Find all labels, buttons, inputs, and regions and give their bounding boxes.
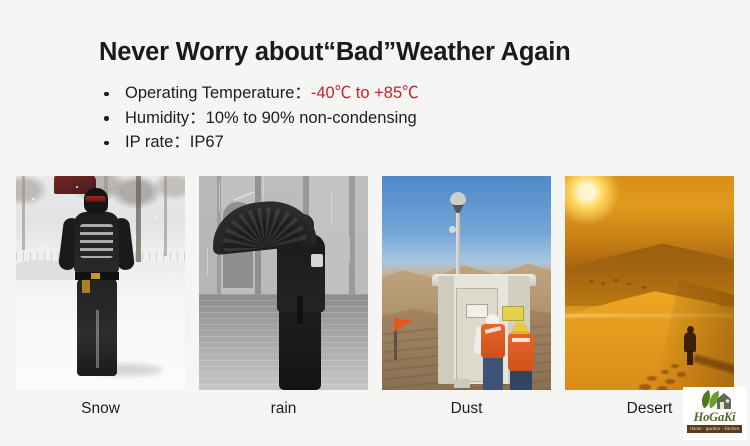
dune-crest [565,314,734,317]
footprint [639,384,651,390]
rain-streak [349,236,350,262]
snowflake [32,198,34,200]
spec-list: Operating Temperature：-40℃ to +85℃ Humid… [100,81,419,155]
spec-label: Humidity：10% to 90% non-condensing [125,109,417,127]
snowflake [134,236,136,238]
footprint [665,379,675,384]
logo-wordmark: HoGaKi [694,410,736,424]
spec-label: Operating Temperature： [125,84,311,102]
caption-row: Snow rain Dust Desert [16,398,734,424]
rain-streak [263,176,264,198]
belt-pouch [82,280,90,293]
footprint [657,386,668,390]
footprint [661,370,669,374]
rain-streak [331,190,332,224]
page-title: Never Worry about“Bad”Weather Again [99,38,570,67]
tree-trunk [164,176,167,256]
distant-mark [627,283,631,285]
distant-mark [613,279,619,282]
snowflake [44,246,46,248]
worker-legs [483,356,503,390]
red-goggles [85,196,106,202]
rain-streak [207,248,208,276]
equipment-strap [297,296,303,324]
belt-buckle [91,273,100,279]
vest-reflective-stripe [512,338,530,342]
cabinet-plate [466,304,488,318]
caption-snow: Snow [16,398,185,424]
logo-tagline: Home - garden - kitchen [687,425,743,433]
caption-rain: rain [199,398,368,424]
ground-box [454,379,470,388]
leg-split [96,310,99,368]
distant-mark [601,282,605,285]
spec-item-ip-rate: IP rate：IP67 [100,130,419,155]
worker-white-helmet [486,314,499,324]
rain-photo [199,176,368,390]
snow-covered-vest [80,224,113,258]
slide-canvas: Never Worry about“Bad”Weather Again Oper… [0,0,750,446]
snowflake [76,186,78,188]
snow-photo [16,176,185,390]
rain-streak [219,182,220,212]
caption-dust: Dust [382,398,551,424]
spec-label: IP rate：IP67 [125,133,224,151]
spec-item-humidity: Humidity：10% to 90% non-condensing [100,106,419,131]
dust-photo [382,176,551,390]
snowflake [168,272,170,274]
leaf-house-icon [698,389,732,410]
camera-mount [452,204,464,213]
distant-mark [641,286,646,289]
brand-logo: HoGaKi Home - garden - kitchen [683,387,746,440]
body [684,332,696,352]
worker-legs [510,369,532,390]
snow-figure [60,188,134,378]
distant-mark [589,280,594,283]
footprint [647,376,657,381]
desert-photo [565,176,734,390]
spec-value: -40℃ to +85℃ [311,84,419,102]
legs [687,350,693,365]
snowflake [156,216,158,218]
spec-item-temperature: Operating Temperature：-40℃ to +85℃ [100,81,419,106]
footprint [677,372,686,377]
shoulder-patch [311,254,323,267]
yellow-warning-label [502,306,524,321]
sensor-icon [449,226,456,233]
gallery-row [16,176,734,390]
footprint [671,364,679,368]
dome-camera-icon [450,192,466,205]
hardhat-brim [511,331,529,334]
tree-trunk [22,176,25,250]
desert-walker [683,326,697,364]
